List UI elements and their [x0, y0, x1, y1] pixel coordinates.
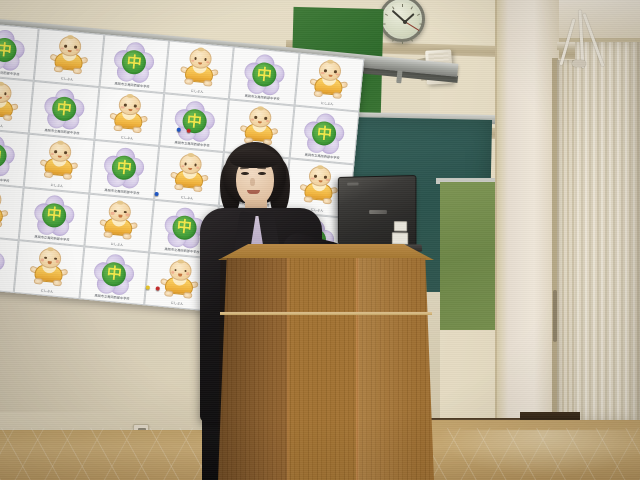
baby-mascot	[157, 259, 201, 303]
presentation-laptop[interactable]	[336, 176, 420, 252]
school-flower-logo: 中	[0, 134, 16, 178]
school-flower-logo: 中	[112, 41, 156, 85]
poster-mascot: にしぶん	[164, 40, 234, 99]
podium-shadow	[218, 258, 278, 480]
school-flower-logo: 中	[243, 53, 287, 97]
eye-right	[258, 172, 266, 175]
school-flower-logo: 中	[0, 240, 6, 284]
baby-mascot	[27, 246, 71, 290]
poster-logo: 中高岡市立高岡西部中学校	[29, 81, 99, 140]
baby-mascot	[177, 47, 221, 91]
eye-left	[241, 172, 249, 175]
school-flower-logo: 中	[172, 100, 216, 144]
poster-logo: 中高岡市立高岡西部中学校	[0, 22, 39, 81]
laptop-brand-logo	[347, 182, 358, 185]
school-flower-logo: 中	[42, 87, 86, 131]
poster-logo: 中高岡市立高岡西部中学校	[89, 140, 159, 199]
baby-mascot	[37, 140, 81, 184]
hair-fringe	[230, 150, 280, 168]
baby-mascot	[308, 59, 352, 103]
poster-logo: 中高岡市立高岡西部中学校	[99, 34, 169, 93]
poster-mascot: にしぶん	[84, 193, 154, 252]
accordion-partition[interactable]	[575, 42, 640, 420]
laptop-sticker-2	[392, 232, 408, 245]
classroom-photo: 中高岡市立高岡西部中学校にしぶん中高岡市立高岡西部中学校にしぶん中高岡市立高岡西…	[0, 0, 640, 480]
partition-handle[interactable]	[553, 290, 557, 342]
poster-logo: 中高岡市立高岡西部中学校	[19, 187, 89, 246]
podium-trim-line	[220, 312, 432, 315]
poster-mascot: にしぶん	[294, 53, 364, 112]
school-flower-logo: 中	[102, 146, 146, 190]
baby-mascot	[0, 81, 21, 125]
mouth	[247, 190, 260, 194]
clock-second-hand	[405, 22, 419, 31]
green-board-right	[440, 182, 500, 330]
wooden-podium	[218, 244, 434, 480]
podium-highlight	[358, 258, 418, 480]
laptop-center-logo	[369, 210, 387, 214]
school-flower-logo: 中	[0, 28, 26, 72]
baby-mascot	[0, 187, 11, 231]
baby-mascot	[107, 94, 151, 138]
nose	[250, 178, 255, 186]
rod-hub	[572, 60, 586, 67]
baby-mascot	[47, 34, 91, 78]
laptop-lid	[338, 175, 417, 247]
poster-mascot: にしぶん	[34, 28, 104, 87]
clock-face	[385, 2, 419, 36]
poster-logo: 中高岡市立高岡西部中学校	[229, 47, 299, 106]
school-flower-logo: 中	[92, 252, 136, 296]
wall-pillar	[497, 0, 559, 432]
partition-leading-panel[interactable]	[557, 60, 577, 420]
floor-reflection	[430, 430, 640, 480]
baby-mascot	[97, 199, 141, 243]
poster-mascot: にしぶん	[24, 134, 94, 193]
poster-mascot: にしぶん	[14, 240, 84, 299]
poster-mascot: にしぶん	[94, 87, 164, 146]
laptop-sticker-1	[394, 221, 407, 231]
school-flower-logo: 中	[32, 193, 76, 237]
poster-logo: 中高岡市立高岡西部中学校	[79, 246, 149, 305]
